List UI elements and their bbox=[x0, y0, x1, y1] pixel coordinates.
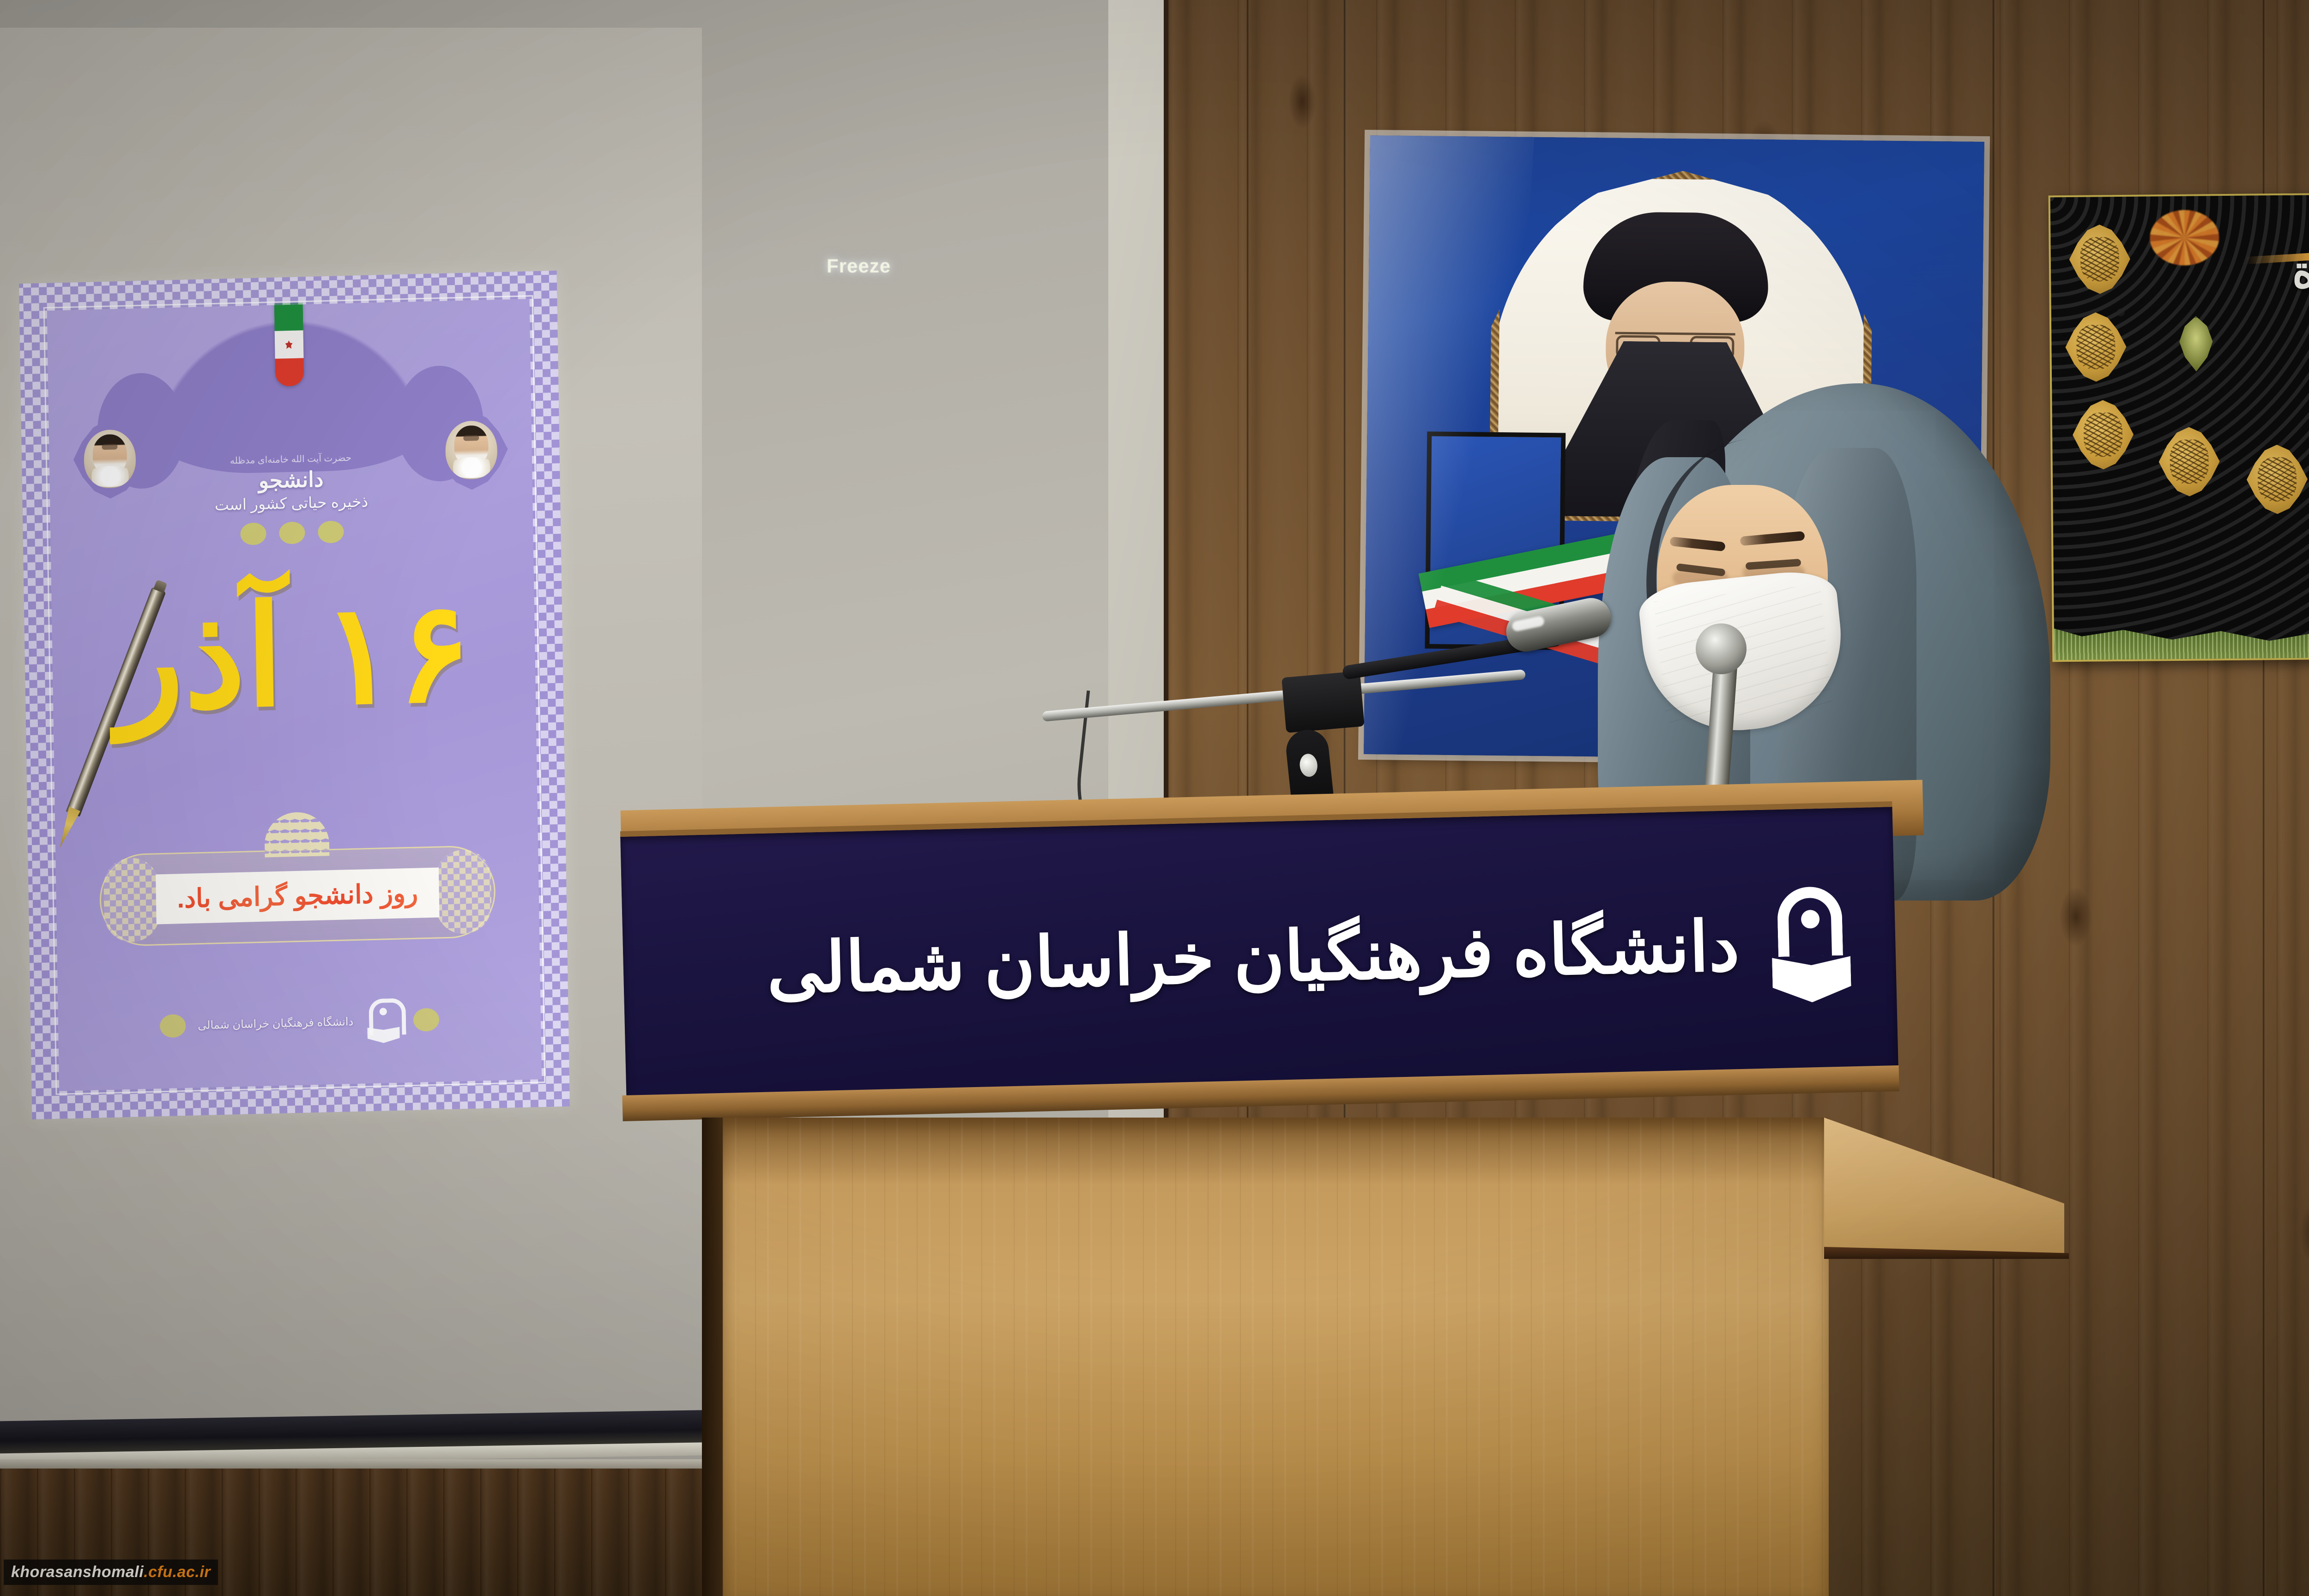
wood-knot bbox=[1288, 74, 1316, 129]
projector-freeze-label: Freeze bbox=[827, 255, 891, 277]
banner-medallion bbox=[2069, 224, 2130, 294]
banner-calligraphy-top: هو الباقی bbox=[2192, 222, 2309, 246]
podium-front-panel bbox=[723, 1118, 1829, 1596]
ribbon-inner-panel: روز دانشجو گرامی باد. bbox=[156, 867, 439, 924]
watermark-suffix: .cfu.ac.ir bbox=[144, 1563, 211, 1581]
banner-medallion bbox=[2065, 312, 2127, 382]
watermark-prefix: khorasanshomali bbox=[11, 1563, 144, 1581]
banner-calligraphy: هو الباقی النبوة bbox=[2192, 222, 2309, 298]
university-logo-icon bbox=[1766, 886, 1856, 1003]
poster-inner-rule bbox=[43, 295, 545, 1095]
podium-name-plate: دانشگاه فرهنگیان خراسان شمالی bbox=[620, 801, 1898, 1108]
banner-calligraphy-main: النبوة bbox=[2292, 247, 2309, 297]
banner-ornament bbox=[2176, 316, 2216, 372]
projected-poster: حضرت آیت الله خامنه‌ای مدظله دانشجو ذخیر… bbox=[19, 271, 570, 1119]
banner-fringe bbox=[2054, 607, 2309, 661]
mourning-banner: هو الباقی النبوة bbox=[2049, 193, 2309, 662]
site-watermark: khorasanshomali.cfu.ac.ir bbox=[4, 1560, 218, 1585]
banner-medallion bbox=[2158, 427, 2220, 496]
podium-sign-text: دانشگاه فرهنگیان خراسان شمالی bbox=[766, 906, 1740, 1010]
microphone-clamp[interactable] bbox=[1281, 671, 1365, 733]
poster-greeting-text: روز دانشجو گرامی باد. bbox=[177, 878, 418, 914]
photo-scene: حضرت آیت الله خامنه‌ای مدظله دانشجو ذخیر… bbox=[0, 0, 2309, 1596]
banner-medallion bbox=[2072, 400, 2134, 470]
second-microphone-head[interactable] bbox=[1696, 623, 1747, 674]
banner-medallion bbox=[2246, 444, 2308, 514]
